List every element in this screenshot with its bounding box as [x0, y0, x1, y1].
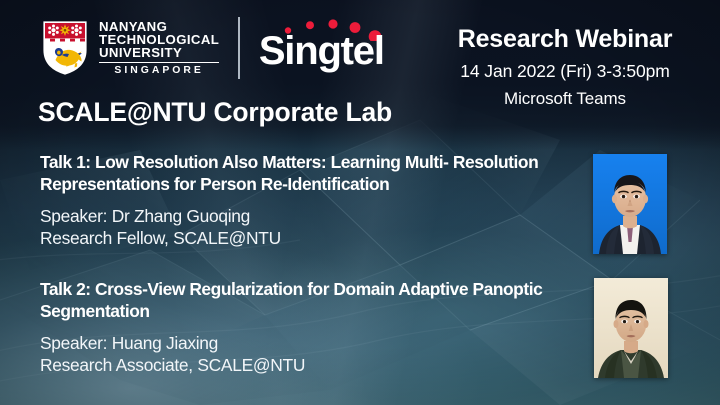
ntu-wordmark-line-3: UNIVERSITY — [99, 46, 219, 59]
talk-2-speaker-affiliation: Research Associate, SCALE@NTU — [40, 354, 588, 377]
poster-header: NANYANG TECHNOLOGICAL UNIVERSITY SINGAPO… — [0, 0, 720, 140]
event-date: 14 Jan 2022 (Fri) 3-3:50pm — [410, 61, 720, 82]
ntu-wordmark: NANYANG TECHNOLOGICAL UNIVERSITY SINGAPO… — [99, 20, 219, 76]
event-title: Research Webinar — [410, 26, 720, 54]
ntu-crest-icon — [42, 20, 88, 76]
event-platform: Microsoft Teams — [410, 89, 720, 109]
talk-block-2: Talk 2: Cross-View Regularization for Do… — [40, 279, 588, 377]
talk-2-title: Talk 2: Cross-View Regularization for Do… — [40, 279, 588, 323]
ntu-wordmark-line-4: SINGAPORE — [99, 66, 219, 76]
webinar-poster: NANYANG TECHNOLOGICAL UNIVERSITY SINGAPO… — [0, 0, 720, 405]
talk-1-speaker-affiliation: Research Fellow, SCALE@NTU — [40, 227, 588, 250]
talk-2-title-line-1: Talk 2: Cross-View Regularization for Do… — [40, 279, 468, 299]
talk-block-1: Talk 1: Low Resolution Also Matters: Lea… — [40, 152, 588, 250]
talk-1-title-line-1: Talk 1: Low Resolution Also Matters: Lea… — [40, 152, 449, 172]
speaker-photo-zhang-guoqing — [593, 154, 667, 254]
logo-separator — [238, 17, 240, 79]
talk-1-title: Talk 1: Low Resolution Also Matters: Lea… — [40, 152, 588, 196]
lab-title: SCALE@NTU Corporate Lab — [38, 97, 392, 128]
ntu-wordmark-divider — [99, 62, 219, 63]
speaker-photo-huang-jiaxing — [594, 278, 668, 378]
logo-row: NANYANG TECHNOLOGICAL UNIVERSITY SINGAPO… — [42, 17, 381, 79]
talk-1-speaker: Speaker: Dr Zhang Guoqing Research Fello… — [40, 205, 588, 250]
singtel-wordmark: Singtel — [259, 31, 384, 71]
talk-2-speaker-name: Speaker: Huang Jiaxing — [40, 332, 588, 355]
event-info: Research Webinar 14 Jan 2022 (Fri) 3-3:5… — [410, 26, 720, 109]
talk-2-speaker: Speaker: Huang Jiaxing Research Associat… — [40, 332, 588, 377]
singtel-logo: Singtel — [259, 17, 381, 79]
talk-1-speaker-name: Speaker: Dr Zhang Guoqing — [40, 205, 588, 228]
